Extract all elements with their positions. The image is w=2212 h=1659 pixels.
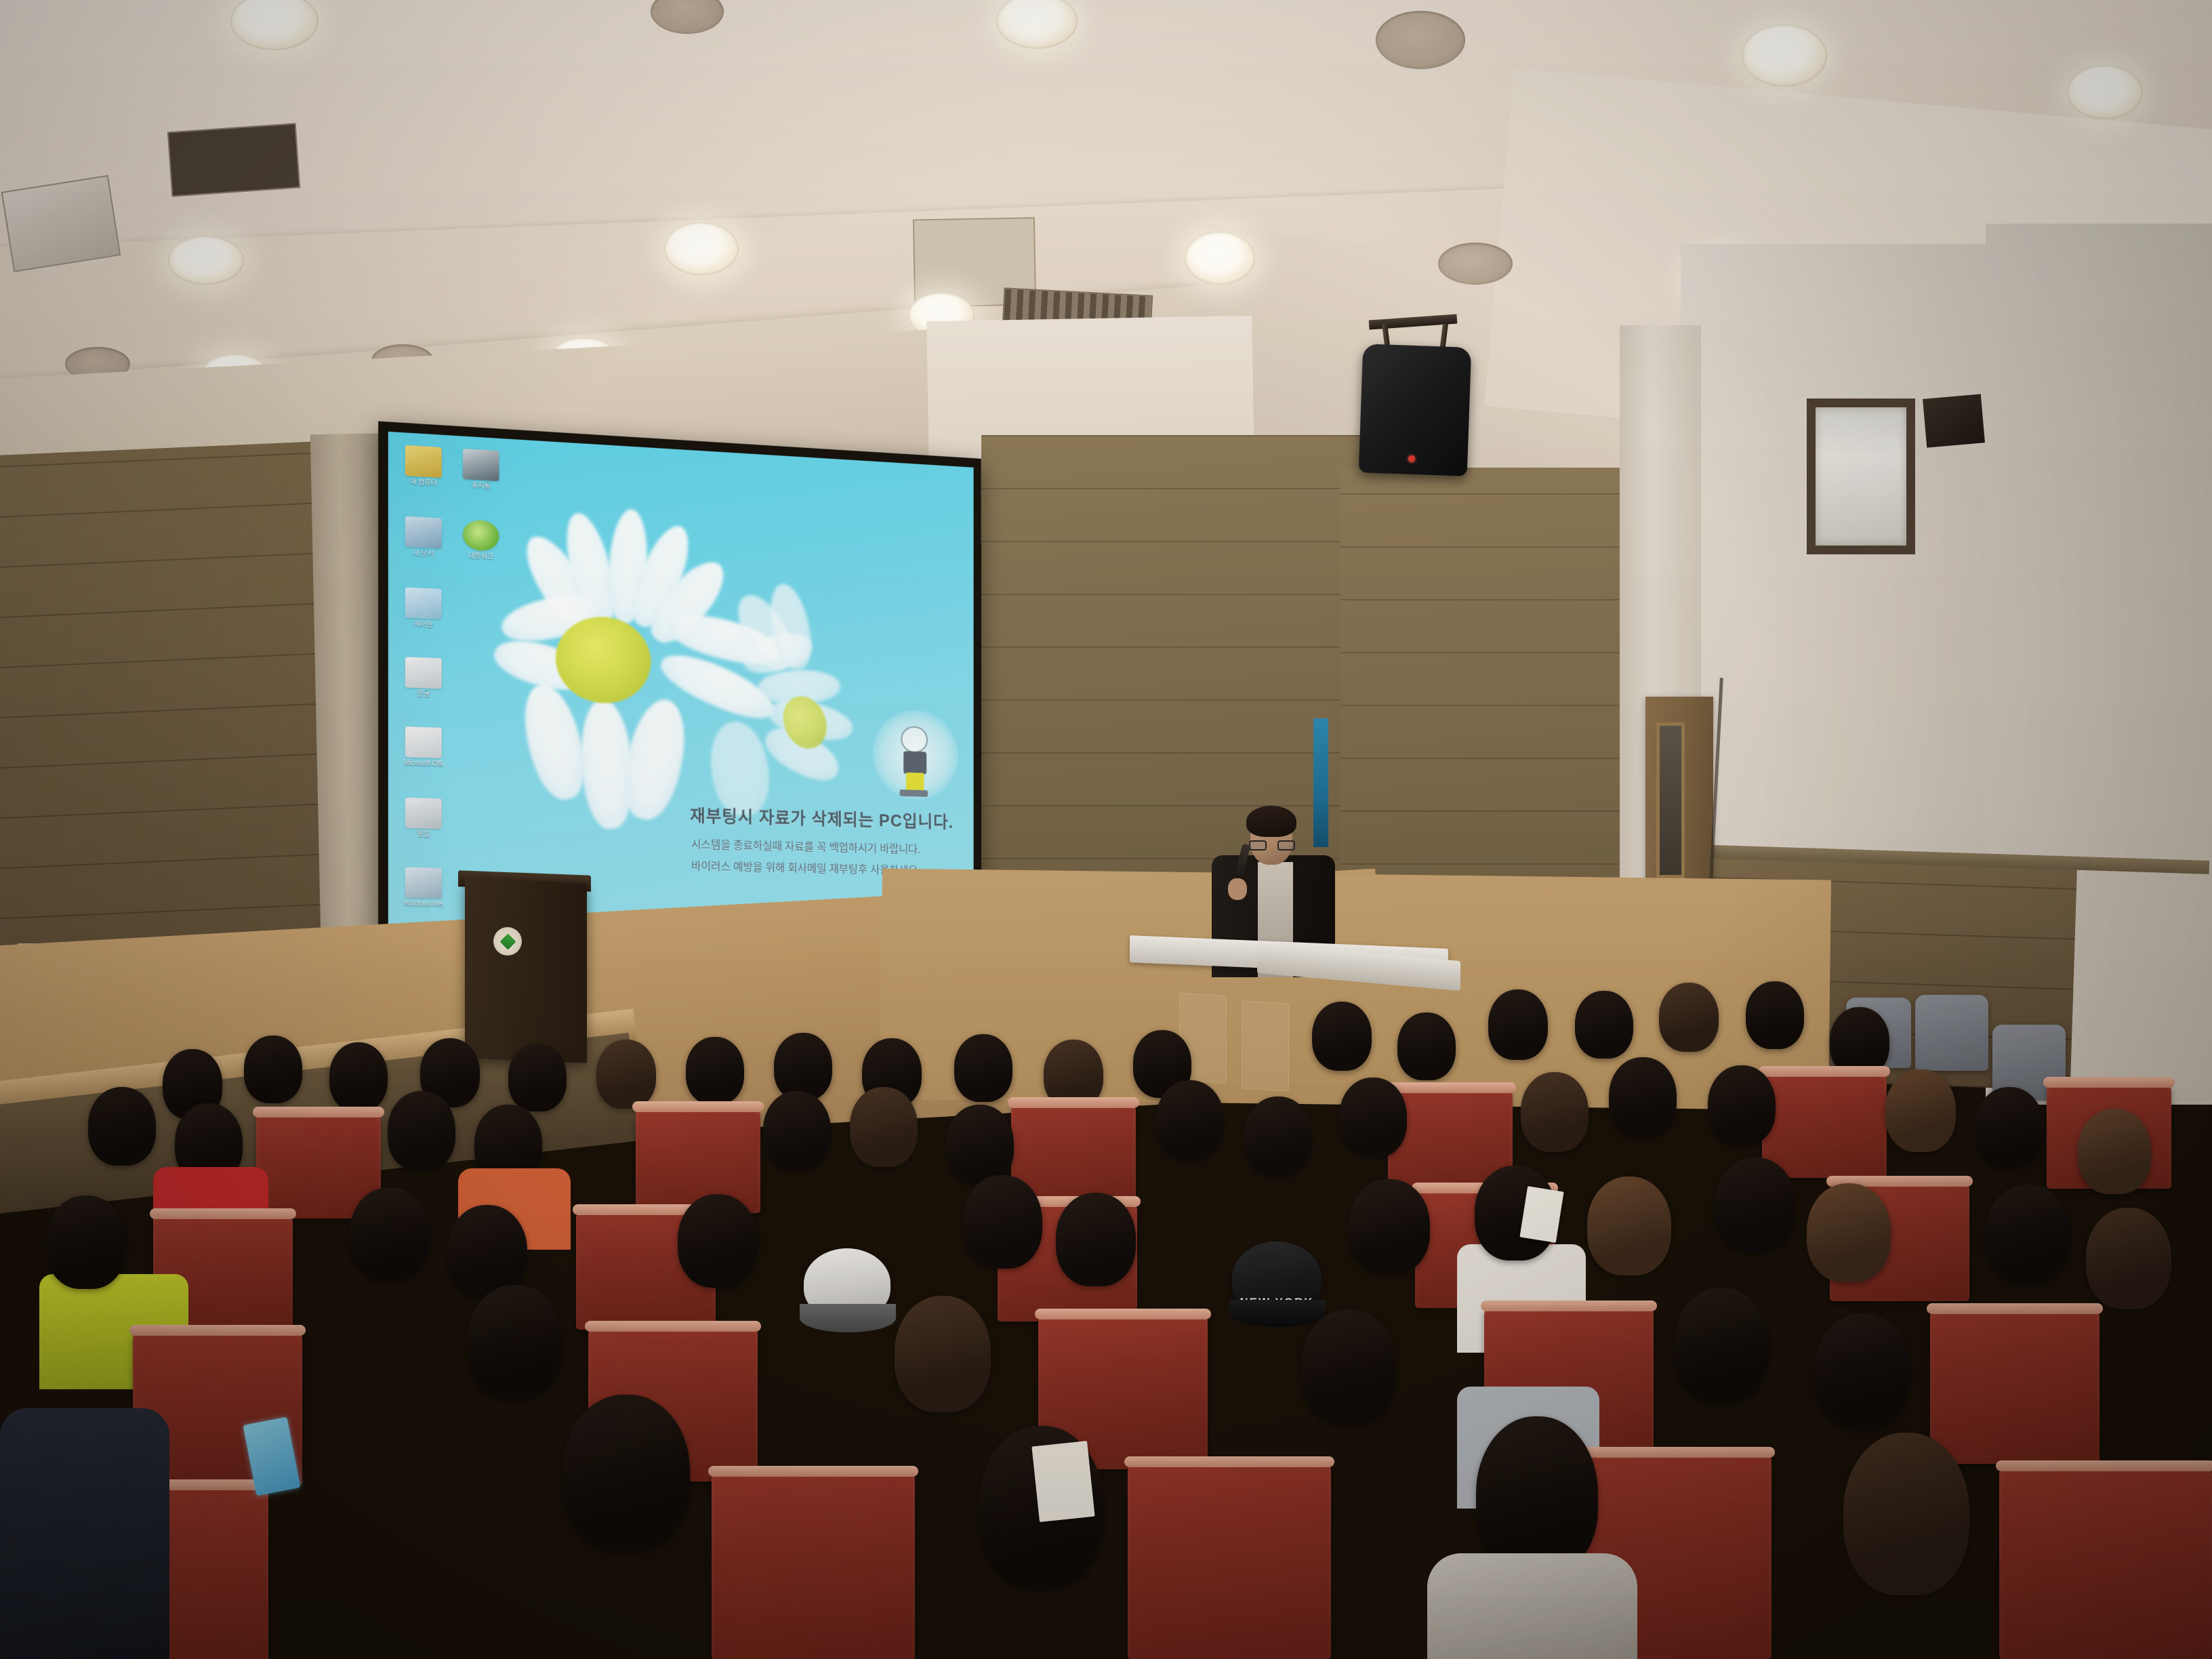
desktop-icon[interactable]: Windows Media xyxy=(404,867,443,909)
desktop-icon-label: 내 컴퓨터 xyxy=(404,478,443,488)
desktop-icon-label: 내 문서 xyxy=(404,549,443,558)
auditorium-seat[interactable] xyxy=(1930,1308,2100,1464)
audience-head xyxy=(1807,1183,1891,1282)
desktop-icon[interactable]: 네트워크 xyxy=(462,519,501,561)
audience-head xyxy=(46,1195,126,1289)
projection-booth-window xyxy=(1807,398,1915,554)
podium xyxy=(465,879,587,1063)
desktop-icon-label: 알집 xyxy=(404,830,443,839)
audience-head xyxy=(2086,1208,2171,1309)
ceiling-downlight xyxy=(664,222,739,275)
documents-icon xyxy=(405,516,442,549)
pa-speaker-power-led xyxy=(1408,455,1415,462)
audience-head xyxy=(1674,1288,1769,1403)
desktop-icon[interactable]: 내 컴퓨터 xyxy=(404,445,443,488)
audience-head xyxy=(562,1395,690,1551)
auditorium-seat[interactable] xyxy=(1128,1461,1331,1659)
audience-head xyxy=(508,1044,567,1111)
audience-head xyxy=(1156,1080,1224,1160)
auditorium-seat[interactable] xyxy=(1999,1465,2212,1659)
auditorium-seat[interactable] xyxy=(636,1106,760,1213)
desktop-icon-label: 제어판 xyxy=(404,620,443,630)
black-cap: NEW YORK xyxy=(1232,1242,1322,1315)
audience-head xyxy=(1521,1072,1589,1152)
audience-head xyxy=(1715,1158,1796,1252)
network-icon xyxy=(463,519,499,552)
desktop-icon-label: Microsoft Office xyxy=(404,759,443,768)
folder-icon xyxy=(405,445,442,478)
recycle-bin-icon xyxy=(463,449,499,481)
control-panel-icon xyxy=(405,588,442,620)
audience-head xyxy=(1746,981,1804,1049)
audience-jacket xyxy=(1427,1553,1637,1659)
audience-head xyxy=(1339,1078,1407,1158)
audience-head xyxy=(1301,1309,1396,1425)
office-icon xyxy=(405,726,442,758)
audience-head xyxy=(1056,1193,1136,1286)
alzip-icon xyxy=(405,798,442,829)
ceiling-downlight xyxy=(1185,232,1255,285)
mascot-head-icon xyxy=(901,726,928,753)
media-icon xyxy=(405,867,442,899)
audience-head xyxy=(946,1105,1014,1185)
audience-head xyxy=(329,1042,388,1111)
desktop-icon[interactable]: Microsoft Office xyxy=(404,726,443,768)
ceiling-downlight xyxy=(168,236,244,285)
audience-head xyxy=(774,1033,832,1101)
ceiling-downlight xyxy=(1742,24,1827,87)
handout-paper[interactable] xyxy=(1519,1186,1563,1243)
office-chair[interactable] xyxy=(1915,995,1988,1071)
desktop-icon[interactable]: 한글 xyxy=(404,657,443,699)
screen-notice-main: 재부팅시 자료가 삭제되는 PC입니다. xyxy=(690,802,954,834)
audience-head xyxy=(1659,983,1719,1052)
audience-head xyxy=(1609,1057,1677,1137)
desktop-icon-label: 네트워크 xyxy=(462,552,501,561)
eyeglasses-icon xyxy=(1249,840,1295,851)
audience-head xyxy=(1349,1179,1430,1274)
lectern-panel xyxy=(1242,1000,1289,1091)
audience-head xyxy=(1843,1433,1969,1595)
audience-head xyxy=(350,1187,430,1281)
pa-speaker xyxy=(1359,344,1472,476)
daisy-petal xyxy=(616,693,694,825)
audience-head xyxy=(678,1194,758,1288)
ceiling-downlight xyxy=(2067,65,2143,119)
desktop-icon[interactable]: 휴지통 xyxy=(462,449,501,491)
audience-head xyxy=(895,1296,991,1412)
audience-head xyxy=(1885,1069,1956,1152)
audience-head xyxy=(962,1175,1042,1269)
wall-speaker xyxy=(1923,394,1985,447)
mascot-body xyxy=(903,751,926,774)
audience-head xyxy=(1575,991,1633,1059)
ceiling-downlight xyxy=(1438,243,1513,285)
mascot-shoe xyxy=(899,790,928,797)
desktop-icon[interactable]: 제어판 xyxy=(404,587,443,629)
audience-head xyxy=(1975,1087,2044,1168)
audience-head xyxy=(468,1285,562,1399)
audience-head xyxy=(1815,1313,1910,1429)
daisy-center xyxy=(556,615,651,705)
audience-head xyxy=(596,1040,656,1109)
audience-head xyxy=(763,1091,831,1171)
hangul-icon xyxy=(405,657,442,689)
desktop-icon-label: 휴지통 xyxy=(462,481,501,491)
auditorium-seat[interactable] xyxy=(712,1471,915,1659)
cap-logo-text: NEW YORK xyxy=(1232,1296,1322,1309)
podium-emblem xyxy=(493,927,522,956)
desktop-icon[interactable]: 내 문서 xyxy=(404,516,443,558)
audience-head xyxy=(954,1034,1012,1102)
audience-head xyxy=(1587,1176,1671,1275)
audience-jacket xyxy=(0,1408,169,1659)
ceiling-downlight xyxy=(1376,11,1465,69)
audience-head xyxy=(1476,1416,1598,1576)
wall-banner-strip xyxy=(1313,718,1328,847)
desktop-icon[interactable]: 알집 xyxy=(404,798,443,839)
audience-head xyxy=(2078,1109,2151,1194)
presenter-hand xyxy=(1228,878,1247,900)
ceiling-access-hatch xyxy=(167,123,300,197)
audience-head xyxy=(850,1087,918,1167)
audience-head xyxy=(1708,1065,1776,1145)
auditorium-seat[interactable] xyxy=(1762,1071,1887,1178)
desktop-icon-label: 한글 xyxy=(404,689,443,698)
handout-paper[interactable] xyxy=(1031,1441,1094,1522)
desktop-icon-label: Windows Media xyxy=(404,900,443,908)
audience-head xyxy=(1397,1012,1456,1080)
audience-head xyxy=(1312,1002,1372,1071)
auditorium-photo: 재부팅시 자료가 삭제되는 PC입니다. 시스템을 종료하실때 자료를 꼭 백업… xyxy=(0,0,2212,1659)
audience-head xyxy=(1488,989,1548,1060)
audience-head xyxy=(686,1037,744,1105)
white-cap xyxy=(804,1248,890,1319)
presenter-hair xyxy=(1246,806,1296,837)
screen-notice-sub-1: 시스템을 종료하실때 자료를 꼭 백업하시기 바랍니다. xyxy=(691,835,920,857)
door-glass-panel xyxy=(1656,722,1685,878)
audience-head xyxy=(244,1036,302,1103)
mascot-legs xyxy=(906,773,924,792)
audience-head xyxy=(1244,1097,1312,1176)
audience-head xyxy=(388,1091,455,1171)
audience-head xyxy=(1986,1185,2070,1284)
projector-mount xyxy=(1,175,121,272)
audience-head xyxy=(88,1087,156,1166)
